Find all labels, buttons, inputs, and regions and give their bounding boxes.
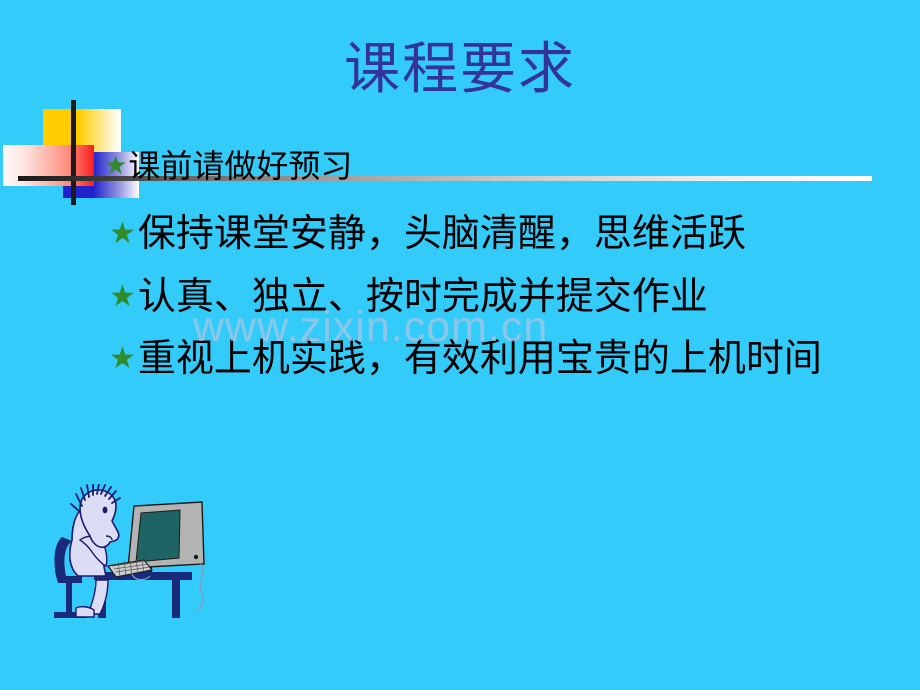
monitor-cable	[196, 564, 203, 610]
presentation-slide: 课程要求 ★ 课前请做好预习 ★ 保持课堂安静，头脑清醒，思维活跃 ★ 认真、独…	[0, 0, 920, 690]
desk-top	[94, 572, 192, 580]
bullet-text: 保持课堂安静，头脑清醒，思维活跃	[138, 215, 746, 253]
star-bullet-icon: ★	[109, 344, 136, 374]
desk-leg-right	[172, 580, 180, 618]
star-bullet-icon: ★	[109, 219, 136, 249]
bullet-text: 课前请做好预习	[128, 150, 352, 182]
deco-vertical-line	[71, 100, 76, 205]
star-bullet-icon: ★	[104, 153, 127, 179]
bullet-item: ★ 保持课堂安静，头脑清醒，思维活跃	[109, 215, 746, 253]
monitor-power-led	[194, 555, 198, 559]
person-foot	[76, 607, 94, 617]
slide-title: 课程要求	[0, 34, 920, 106]
monitor-screen	[136, 510, 180, 562]
chair-seat	[56, 576, 82, 583]
person-at-computer-clipart	[52, 484, 232, 620]
person-eye	[103, 507, 108, 514]
bullet-item: ★ 课前请做好预习	[104, 150, 352, 182]
clipart-svg	[52, 484, 232, 620]
site-watermark: www.zixin.com.cn	[193, 303, 548, 352]
chair-post	[66, 583, 72, 612]
star-bullet-icon: ★	[109, 282, 136, 312]
